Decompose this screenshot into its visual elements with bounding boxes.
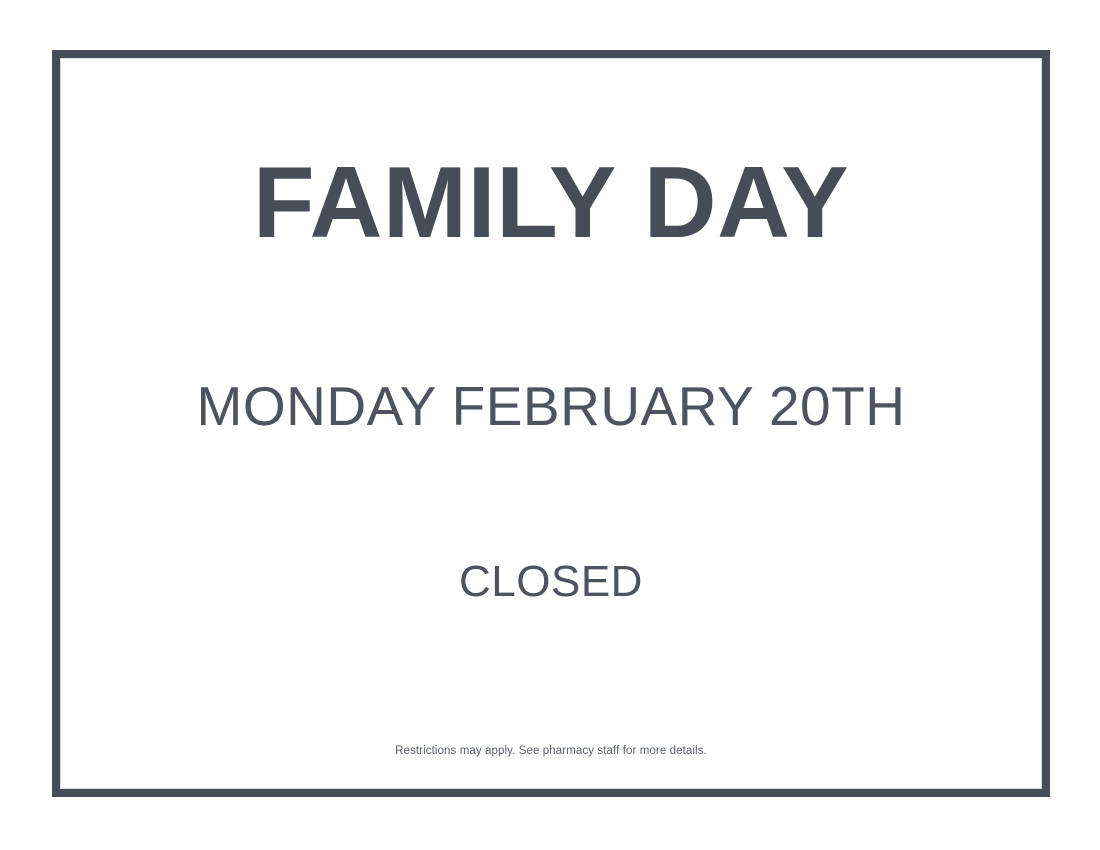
page-title: FAMILY DAY <box>60 150 1042 256</box>
sign-frame-border: FAMILY DAY MONDAY FEBRUARY 20TH CLOSED R… <box>52 50 1050 797</box>
disclaimer-text: Restrictions may apply. See pharmacy sta… <box>60 745 1042 757</box>
sign-date-line: MONDAY FEBRUARY 20TH <box>60 376 1042 437</box>
status-badge: CLOSED <box>60 558 1042 606</box>
sign-content: FAMILY DAY MONDAY FEBRUARY 20TH CLOSED R… <box>60 58 1042 789</box>
sign-page: FAMILY DAY MONDAY FEBRUARY 20TH CLOSED R… <box>0 0 1100 850</box>
